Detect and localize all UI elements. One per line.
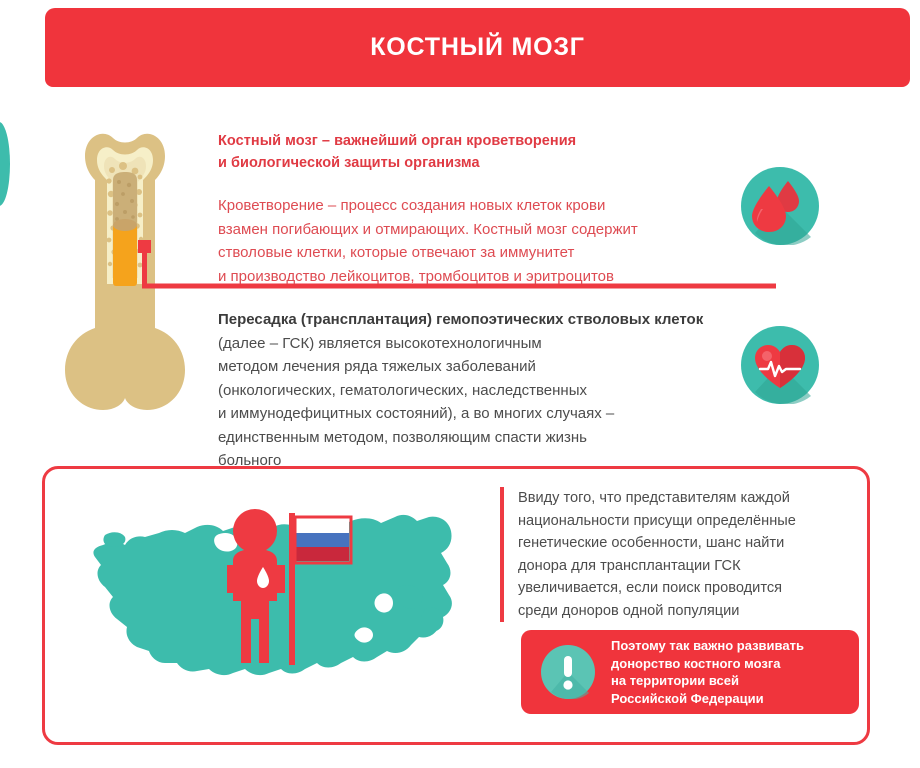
marrow-cavity-top [113,219,137,231]
body-line-1: Кроветворение – процесс создания новых к… [218,197,605,214]
heart-highlight [762,351,772,361]
figure-arm-left [227,565,233,593]
bottom-card: Ввиду того, что представителям каждой на… [42,466,870,745]
quote-text: Ввиду того, что представителям каждой на… [518,487,850,622]
callout-line-1: Поэтому так важно развивать [611,638,804,653]
section-two-line-1: (далее – ГСК) является высокотехнологичн… [218,335,542,352]
section-one-text: Костный мозг – важнейший орган кроветвор… [218,130,718,288]
infographic-page: КОСТНЫЙ МОЗГ [0,0,920,768]
section-two-line-5: единственным методом, позволяющим спасти… [218,429,587,446]
body-line-2: взамен погибающих и отмирающих. Костный … [218,221,638,238]
quote-line-4: донора для трансплантации ГСК [518,558,741,574]
heading-line-1: Костный мозг – важнейший орган кроветвор… [218,133,576,149]
figure-head [233,509,277,553]
body-line-4: и производство лейкоцитов, тромбоцитов и… [218,268,614,285]
flag-stripe-blue [295,533,349,547]
callout-text: Поэтому так важно развивать донорство ко… [611,637,804,707]
yellow-marrow-cavity [113,224,137,286]
section-two-line-2: методом лечения ряда тяжелых заболеваний [218,358,536,375]
callout-line-3: на территории всей [611,673,739,688]
russia-map-illustration [67,483,477,723]
heading-line-2: и биологической защиты организма [218,155,480,171]
flag-stripe-red [295,547,349,561]
bone-cross-section-illustration [55,118,195,466]
quote-line-6: среди доноров одной популяции [518,603,739,619]
exclamation-circle-icon [541,645,595,699]
blood-drops-icon [741,167,819,245]
callout-line-2: донорство костного мозга [611,656,781,671]
header-bar: КОСТНЫЙ МОЗГ [45,8,910,87]
edge-accent-circle [0,122,10,206]
flag-stripe-white [295,519,349,533]
section-two-text: Пересадка (трансплантация) гемопоэтическ… [218,308,718,473]
section-two-line-3: (онкологических, гематологических, насле… [218,382,587,399]
quote-line-2: национальности присущи определённые [518,513,796,529]
quote-line-1: Ввиду того, что представителям каждой [518,490,790,506]
callout-box: Поэтому так важно развивать донорство ко… [521,630,859,714]
section-one-body: Кроветворение – процесс создания новых к… [218,194,718,288]
exclamation-stem [564,656,572,677]
page-title: КОСТНЫЙ МОЗГ [370,33,585,62]
exclamation-dot [563,680,572,689]
section-two-bold-lead: Пересадка (трансплантация) гемопоэтическ… [218,311,703,328]
figure-arm-right [277,565,285,593]
heart-pulse-icon [741,326,819,404]
quote-line-5: увеличивается, если поиск проводится [518,580,782,596]
quote-line-3: генетические особенности, шанс найти [518,535,784,551]
body-line-3: стволовые клетки, которые отвечают за им… [218,244,574,261]
section-two-body: Пересадка (трансплантация) гемопоэтическ… [218,308,718,473]
section-two-line-4: и иммунодефицитных состояний), а во мног… [218,405,614,422]
section-one-heading: Костный мозг – важнейший орган кроветвор… [218,130,718,174]
quote-block: Ввиду того, что представителям каждой на… [500,487,850,622]
callout-line-4: Российской Федерации [611,691,764,706]
